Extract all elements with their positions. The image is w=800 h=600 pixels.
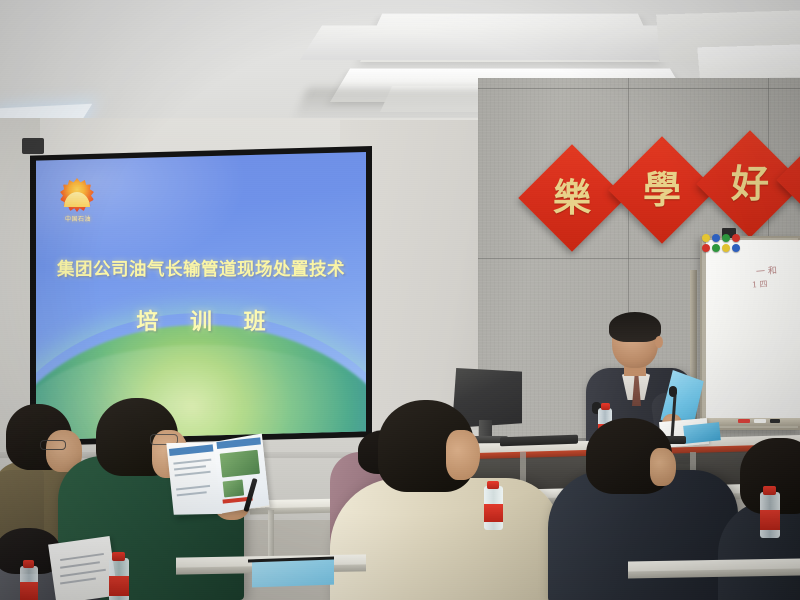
speaker-ear [655, 336, 663, 348]
whiteboard-magnet [732, 244, 740, 252]
ceiling-coffer [697, 43, 800, 80]
whiteboard-magnet [702, 244, 710, 252]
podium-blue-folder [683, 422, 721, 444]
screen-housing [22, 138, 44, 154]
held-papers [48, 536, 118, 600]
stone-seam [478, 88, 800, 89]
photo-scene: 樂 學 好 學 一 和 1 四 中国石油 集团公司油气长输管道现场处置技术 培 … [0, 0, 800, 600]
marker-red [738, 419, 750, 423]
glasses-icon [40, 440, 66, 450]
slide-title: 集团公司油气长输管道现场处置技术 [36, 256, 366, 281]
wall-placard-xue: 學 [608, 136, 715, 243]
petrochina-sun-logo [60, 178, 94, 212]
whiteboard-text-line-1: 一 和 [756, 263, 778, 277]
open-booklet [166, 435, 269, 517]
projection-screen: 中国石油 集团公司油气长输管道现场处置技术 培 训 班 [36, 152, 366, 440]
whiteboard-magnet [702, 234, 710, 242]
microphone-head [669, 386, 677, 397]
whiteboard-surface [706, 240, 800, 418]
logo-caption: 中国石油 [56, 214, 100, 223]
placard-character: 學 [792, 142, 800, 218]
whiteboard-magnet [712, 244, 720, 252]
whiteboard-magnets [700, 232, 750, 254]
placard-character: 好 [712, 146, 788, 222]
whiteboard-magnet [732, 234, 740, 242]
slide-subtitle: 培 训 班 [36, 304, 366, 336]
blue-document [252, 559, 334, 588]
whiteboard-magnet [722, 234, 730, 242]
marker-black [770, 419, 780, 423]
whiteboard-magnet [722, 244, 730, 252]
whiteboard-magnet [712, 234, 720, 242]
wall-placard-le: 樂 [518, 144, 625, 251]
placard-character: 學 [624, 152, 700, 228]
placard-character: 樂 [534, 160, 610, 236]
speaker-hair [609, 312, 661, 342]
marker-white [754, 419, 766, 423]
whiteboard-text-line-2: 1 四 [752, 278, 768, 290]
